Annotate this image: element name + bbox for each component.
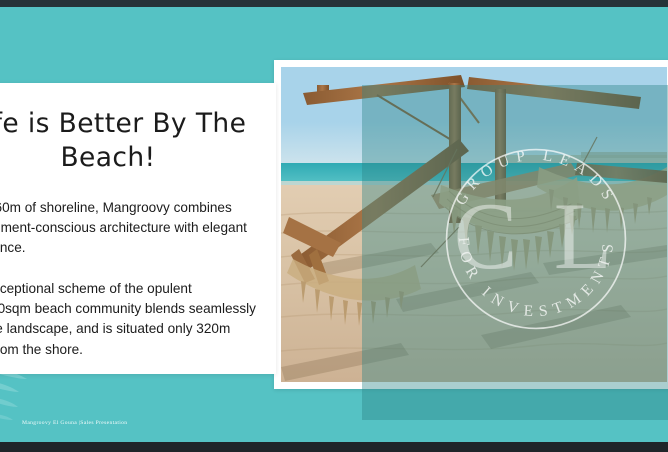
- window-chrome-top-bar: [0, 0, 668, 7]
- body-paragraph-two: This exceptional scheme of the opulent 1…: [0, 279, 260, 359]
- beach-hammocks-photo: [281, 67, 667, 382]
- slide-title: Life is Better By The Beach!: [0, 107, 260, 176]
- photo-frame: [274, 60, 668, 389]
- slide-viewport: GROUP LEADS FOR INVESTMENTS C L Life is …: [0, 0, 668, 452]
- text-content-card: Life is Better By The Beach! With 560m o…: [0, 83, 276, 374]
- slide-canvas: GROUP LEADS FOR INVESTMENTS C L Life is …: [0, 7, 668, 442]
- body-paragraph-one: With 560m of shoreline, Mangroovy combin…: [0, 198, 260, 258]
- slide-footer-text: Mangroovy El Gouna |Sales Presentation: [22, 420, 127, 426]
- window-chrome-bottom-bar: [0, 442, 668, 452]
